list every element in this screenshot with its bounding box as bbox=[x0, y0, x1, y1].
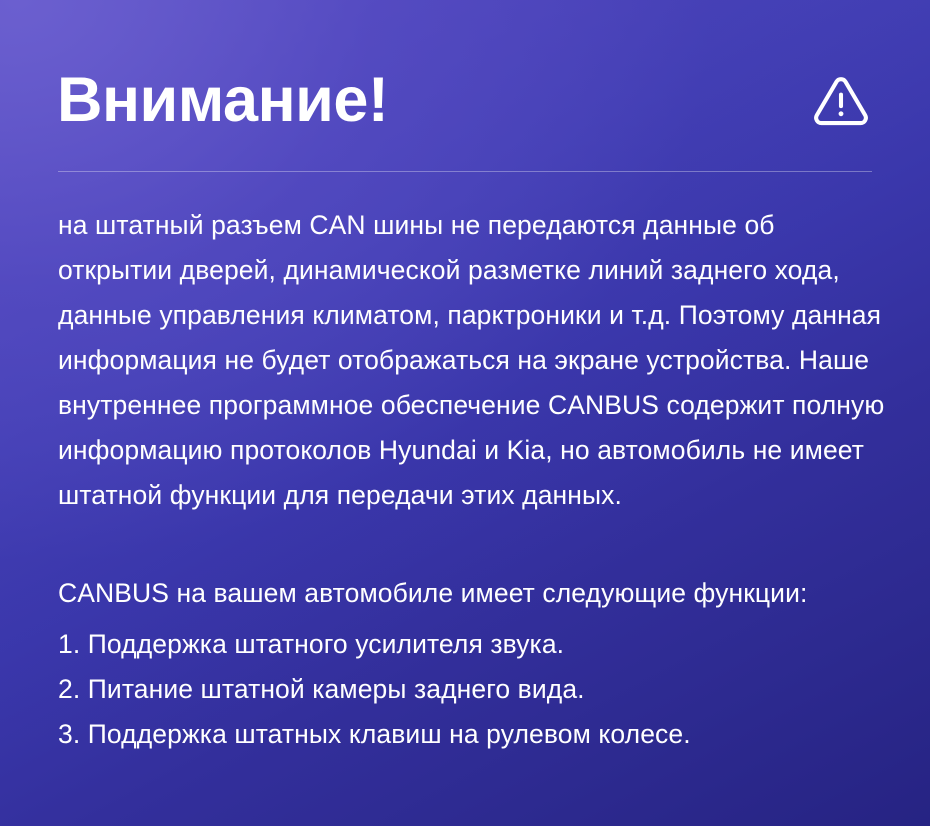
warning-banner: Внимание! на штатный разъем CAN шины не … bbox=[0, 0, 930, 826]
functions-list: 1. Поддержка штатного усилителя звука. 2… bbox=[58, 622, 886, 757]
list-item: 3. Поддержка штатных клавиш на рулевом к… bbox=[58, 712, 886, 757]
list-item: 2. Питание штатной камеры заднего вида. bbox=[58, 667, 886, 712]
list-item: 1. Поддержка штатного усилителя звука. bbox=[58, 622, 886, 667]
warning-triangle-icon bbox=[810, 68, 878, 132]
header-divider bbox=[58, 171, 872, 172]
banner-header: Внимание! bbox=[57, 52, 878, 148]
functions-block: CANBUS на вашем автомобиле имеет следующ… bbox=[58, 571, 886, 757]
banner-content: на штатный разъем CAN шины не передаются… bbox=[58, 203, 886, 757]
intro-paragraph: на штатный разъем CAN шины не передаются… bbox=[58, 203, 886, 518]
functions-intro: CANBUS на вашем автомобиле имеет следующ… bbox=[58, 571, 886, 616]
page-title: Внимание! bbox=[57, 69, 388, 132]
